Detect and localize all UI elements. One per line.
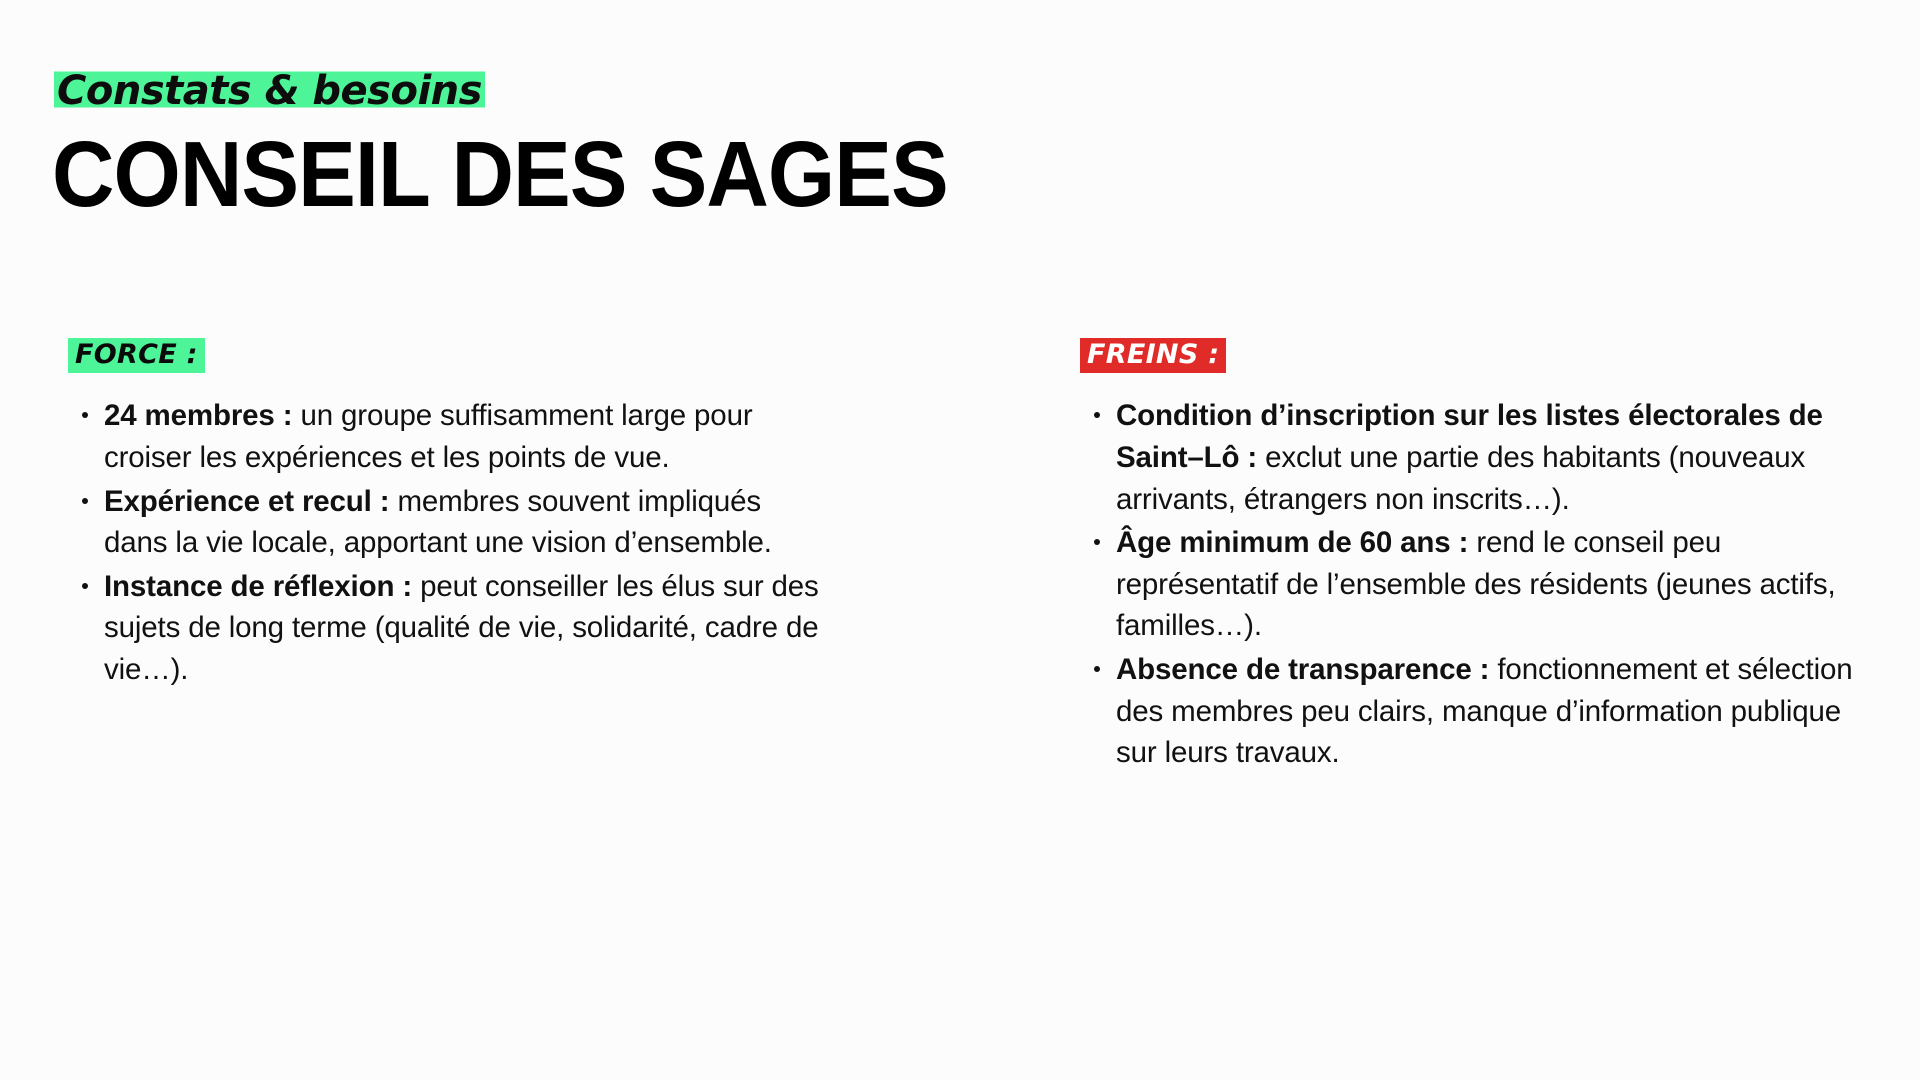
eyebrow-wrapper: Constats & besoins [54, 68, 485, 114]
section-eyebrow: Constats & besoins [54, 68, 485, 114]
list-item: Instance de réflexion : peut conseiller … [68, 566, 828, 691]
bullet-lead: Absence de transparence : [1116, 653, 1489, 686]
list-item: Condition d’inscription sur les listes é… [1080, 395, 1860, 520]
page-title: CONSEIL DES SAGES [52, 128, 948, 221]
freins-bullet-list: Condition d’inscription sur les listes é… [1080, 395, 1866, 773]
list-item: Expérience et recul : membres souvent im… [68, 481, 828, 564]
list-item: Âge minimum de 60 ans : rend le conseil … [1080, 522, 1860, 647]
force-bullet-list: 24 membres : un groupe suffisamment larg… [68, 395, 900, 690]
badge-force: FORCE : [68, 338, 205, 373]
bullet-lead: Âge minimum de 60 ans : [1116, 526, 1468, 559]
column-freins: FREINS : Condition d’inscription sur les… [966, 338, 1866, 776]
content-columns: FORCE : 24 membres : un groupe suffisamm… [0, 338, 1920, 776]
slide: Constats & besoins CONSEIL DES SAGES FOR… [0, 0, 1920, 1080]
bullet-lead: Instance de réflexion : [104, 570, 412, 603]
badge-freins: FREINS : [1080, 338, 1226, 373]
column-force: FORCE : 24 membres : un groupe suffisamm… [0, 338, 900, 776]
bullet-lead: 24 membres : [104, 399, 292, 432]
list-item: Absence de transparence : fonctionnement… [1080, 649, 1860, 774]
slide-footer: COMMENT METTRE EN PLACE LA DÉMOCRATIE CI… [0, 910, 1920, 1080]
list-item: 24 membres : un groupe suffisamment larg… [68, 395, 828, 478]
bullet-lead: Expérience et recul : [104, 485, 389, 518]
